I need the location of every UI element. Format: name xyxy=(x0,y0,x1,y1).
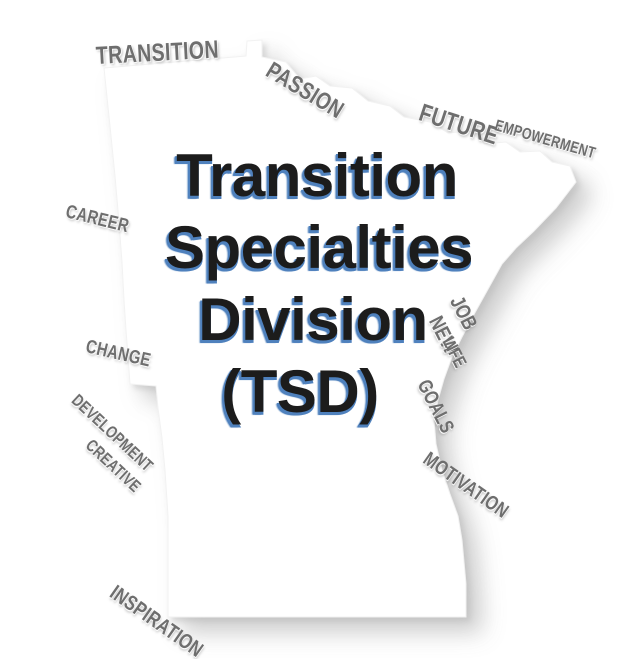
keyword-transition: TRANSITION xyxy=(95,35,219,70)
logo-canvas: TRANSITIONPASSIONFUTUREEMPOWERMENTCAREER… xyxy=(0,0,640,659)
